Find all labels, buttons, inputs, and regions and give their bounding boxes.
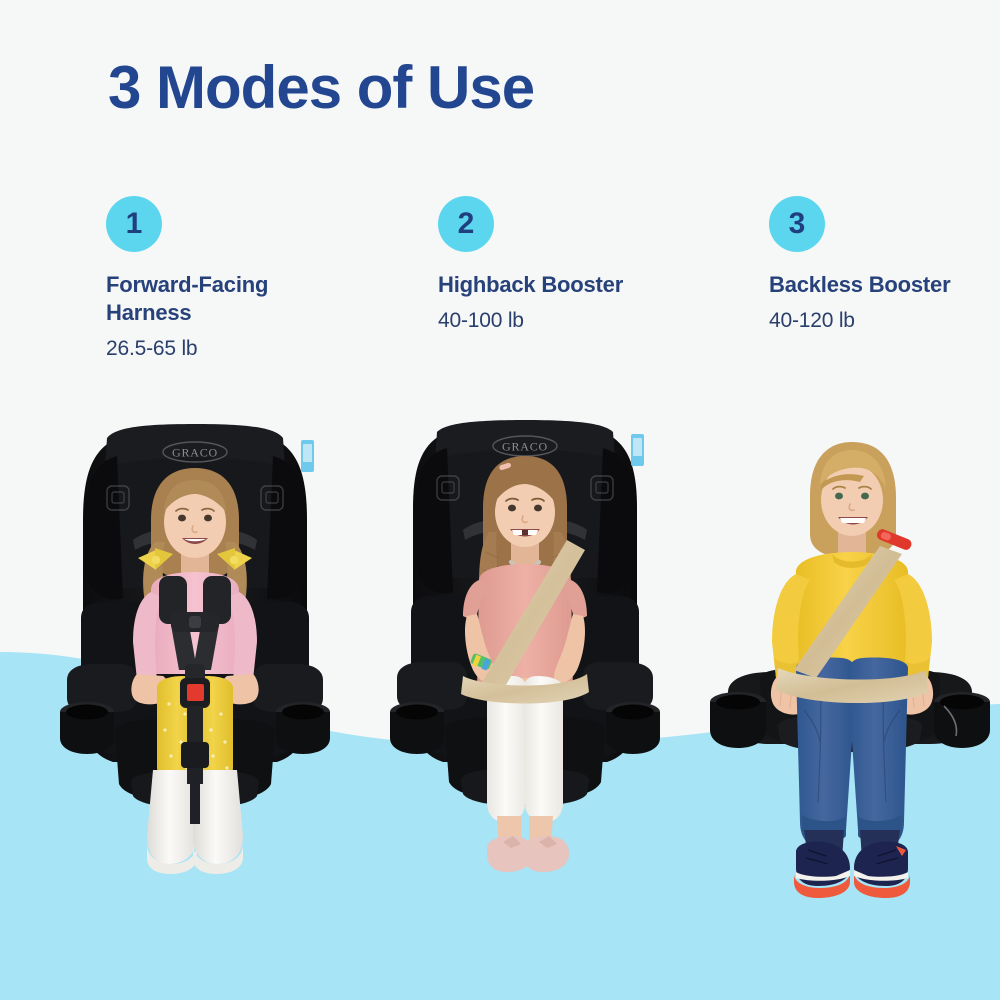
- photo-forward-facing-harness: GRACO: [45, 412, 345, 912]
- page-title: 3 Modes of Use: [108, 58, 534, 118]
- mode-column-2: 2 Highback Booster 40-100 lb: [438, 196, 738, 333]
- mode-column-3: 3 Backless Booster 40-120 lb: [769, 196, 1000, 333]
- svg-text:GRACO: GRACO: [502, 440, 548, 454]
- photo-backless-booster: [700, 430, 1000, 920]
- white-boot-right: [193, 770, 243, 874]
- white-boot-left: [147, 770, 197, 874]
- mode-badge-1: 1: [106, 196, 162, 252]
- promo-graphic: 3 Modes of Use 1 Forward-Facing Harness …: [0, 0, 1000, 1000]
- graco-logo: GRACO: [493, 436, 557, 456]
- mode-name-2: Highback Booster: [438, 271, 648, 299]
- photo-highback-booster: GRACO: [375, 412, 675, 912]
- cup-holder-left: [710, 692, 766, 748]
- mode-name-3: Backless Booster: [769, 271, 979, 299]
- mode-weight-2: 40-100 lb: [438, 309, 738, 333]
- mode-name-1: Forward-Facing Harness: [106, 271, 316, 327]
- mode-weight-3: 40-120 lb: [769, 309, 1000, 333]
- graco-logo: GRACO: [163, 442, 227, 462]
- cup-holder-right: [934, 692, 990, 748]
- cup-holder-left: [60, 702, 114, 754]
- mode-weight-1: 26.5-65 lb: [106, 337, 406, 361]
- svg-text:GRACO: GRACO: [172, 446, 218, 460]
- shoe-right: [523, 836, 569, 872]
- mode-badge-3: 3: [769, 196, 825, 252]
- mode-column-1: 1 Forward-Facing Harness 26.5-65 lb: [106, 196, 406, 361]
- sneaker-right: [854, 841, 910, 898]
- sneaker-left: [794, 841, 850, 898]
- cup-holder-right: [276, 702, 330, 754]
- cup-holder-right: [606, 702, 660, 754]
- cup-holder-left: [390, 702, 444, 754]
- mode-badge-2: 2: [438, 196, 494, 252]
- harness-buckle: [187, 684, 204, 701]
